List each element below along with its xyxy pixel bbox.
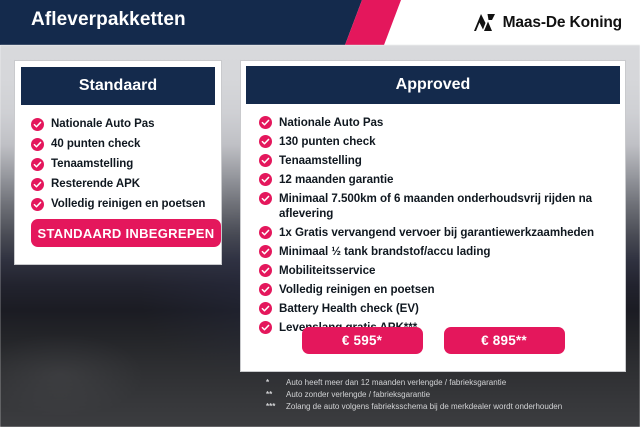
check-circle-icon <box>259 264 272 277</box>
feature-label: Battery Health check (EV) <box>279 301 419 316</box>
footnote-marker: *** <box>266 402 286 412</box>
feature-label: Nationale Auto Pas <box>279 115 383 130</box>
footnote-text: Auto heeft meer dan 12 maanden verlengde… <box>286 378 506 388</box>
page-root: Afleverpakketten Maas-De Koning Standaar… <box>0 0 640 427</box>
page-title: Afleverpakketten <box>31 9 186 31</box>
feature-item: 1x Gratis vervangend vervoer bij garanti… <box>259 225 625 240</box>
brand-logo: Maas-De Koning <box>473 10 622 35</box>
feature-label: Minimaal ½ tank brandstof/accu lading <box>279 244 490 259</box>
check-circle-icon <box>259 173 272 186</box>
feature-item: Battery Health check (EV) <box>259 301 625 316</box>
feature-item: Volledig reinigen en poetsen <box>31 197 221 211</box>
feature-item: 40 punten check <box>31 137 221 151</box>
feature-item: 12 maanden garantie <box>259 172 625 187</box>
footnote-row: *Auto heeft meer dan 12 maanden verlengd… <box>266 378 626 388</box>
package-card-standaard: Standaard Nationale Auto Pas40 punten ch… <box>14 60 222 265</box>
price-button-1[interactable]: € 595* <box>302 327 423 354</box>
feature-item: Resterende APK <box>31 177 221 191</box>
footnote-marker: ** <box>266 390 286 400</box>
feature-label: 1x Gratis vervangend vervoer bij garanti… <box>279 225 594 240</box>
price-button-2[interactable]: € 895** <box>444 327 565 354</box>
feature-label: Minimaal 7.500km of 6 maanden onderhouds… <box>279 191 625 221</box>
feature-label: Volledig reinigen en poetsen <box>51 197 205 211</box>
feature-label: 130 punten check <box>279 134 376 149</box>
feature-list-approved: Nationale Auto Pas130 punten checkTenaam… <box>259 115 625 335</box>
check-circle-icon <box>31 138 44 151</box>
footnote-row: ***Zolang de auto volgens fabrieksschema… <box>266 402 626 412</box>
standaard-included-button[interactable]: STANDAARD INBEGREPEN <box>31 219 221 247</box>
m-logo-icon <box>473 13 496 32</box>
feature-label: Tenaamstelling <box>51 157 133 171</box>
footnote-row: **Auto zonder verlengde / fabrieksgarant… <box>266 390 626 400</box>
check-circle-icon <box>259 302 272 315</box>
feature-label: Nationale Auto Pas <box>51 117 154 131</box>
check-circle-icon <box>259 283 272 296</box>
feature-label: 12 maanden garantie <box>279 172 393 187</box>
package-card-approved: Approved Nationale Auto Pas130 punten ch… <box>240 60 626 372</box>
footnote-marker: * <box>266 378 286 388</box>
feature-item: Volledig reinigen en poetsen <box>259 282 625 297</box>
feature-label: Tenaamstelling <box>279 153 362 168</box>
feature-item: Minimaal ½ tank brandstof/accu lading <box>259 244 625 259</box>
card-title-approved: Approved <box>246 66 620 104</box>
feature-item: 130 punten check <box>259 134 625 149</box>
check-circle-icon <box>259 226 272 239</box>
footnote-text: Auto zonder verlengde / fabrieksgarantie <box>286 390 430 400</box>
feature-item: Tenaamstelling <box>259 153 625 168</box>
feature-item: Tenaamstelling <box>31 157 221 171</box>
check-circle-icon <box>31 178 44 191</box>
price-button-row: € 595*€ 895** <box>241 327 625 354</box>
brand-name: Maas-De Koning <box>503 14 622 32</box>
check-circle-icon <box>259 116 272 129</box>
feature-item: Nationale Auto Pas <box>259 115 625 130</box>
card-title-standaard: Standaard <box>21 67 215 105</box>
check-circle-icon <box>31 158 44 171</box>
check-circle-icon <box>259 135 272 148</box>
footnote-text: Zolang de auto volgens fabrieksschema bi… <box>286 402 562 412</box>
feature-label: Volledig reinigen en poetsen <box>279 282 435 297</box>
feature-item: Mobiliteitsservice <box>259 263 625 278</box>
feature-item: Nationale Auto Pas <box>31 117 221 131</box>
check-circle-icon <box>259 154 272 167</box>
check-circle-icon <box>259 245 272 258</box>
feature-list-standaard: Nationale Auto Pas40 punten checkTenaams… <box>31 117 221 211</box>
feature-item: Minimaal 7.500km of 6 maanden onderhouds… <box>259 191 625 221</box>
check-circle-icon <box>259 192 272 205</box>
footnotes: *Auto heeft meer dan 12 maanden verlengd… <box>266 378 626 414</box>
check-circle-icon <box>31 198 44 211</box>
page-header: Afleverpakketten Maas-De Koning <box>0 0 640 45</box>
feature-label: Resterende APK <box>51 177 140 191</box>
feature-label: Mobiliteitsservice <box>279 263 375 278</box>
feature-label: 40 punten check <box>51 137 140 151</box>
check-circle-icon <box>31 118 44 131</box>
